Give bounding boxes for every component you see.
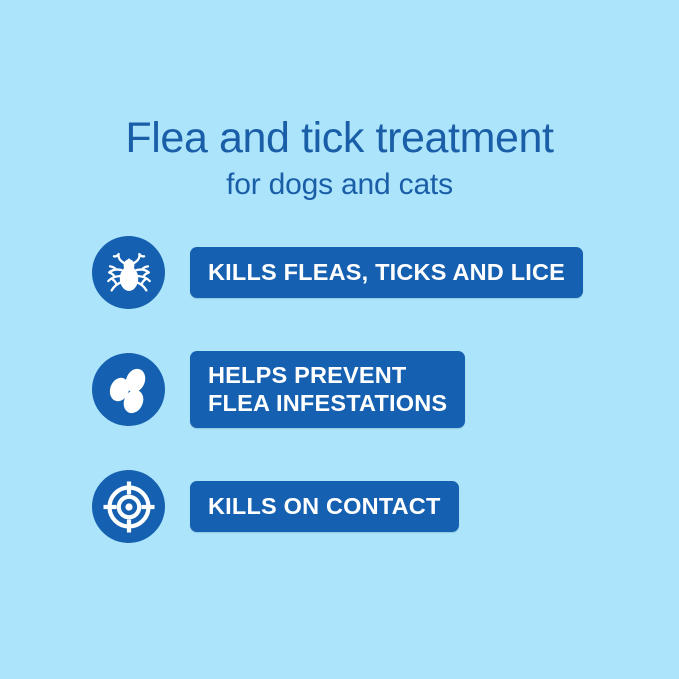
feature-label-pill: KILLS ON CONTACT (190, 481, 459, 532)
feature-row: HELPS PREVENT FLEA INFESTATIONS (92, 351, 652, 428)
feature-list: KILLS FLEAS, TICKS AND LICE HELPS PREVEN… (92, 236, 652, 585)
feature-row: KILLS FLEAS, TICKS AND LICE (92, 236, 652, 309)
tick-icon-badge (92, 236, 165, 309)
page-subtitle: for dogs and cats (0, 166, 679, 204)
product-feature-graphic: Flea and tick treatment for dogs and cat… (0, 0, 679, 679)
feature-row: KILLS ON CONTACT (92, 470, 652, 543)
flea-eggs-icon-badge (92, 353, 165, 426)
crosshair-target-icon (102, 480, 156, 534)
crosshair-target-icon-badge (92, 470, 165, 543)
flea-eggs-icon (102, 363, 156, 417)
feature-label-pill: KILLS FLEAS, TICKS AND LICE (190, 247, 583, 298)
page-title: Flea and tick treatment (0, 112, 679, 164)
tick-icon (101, 245, 157, 301)
feature-label-pill: HELPS PREVENT FLEA INFESTATIONS (190, 351, 465, 428)
heading-block: Flea and tick treatment for dogs and cat… (0, 112, 679, 204)
